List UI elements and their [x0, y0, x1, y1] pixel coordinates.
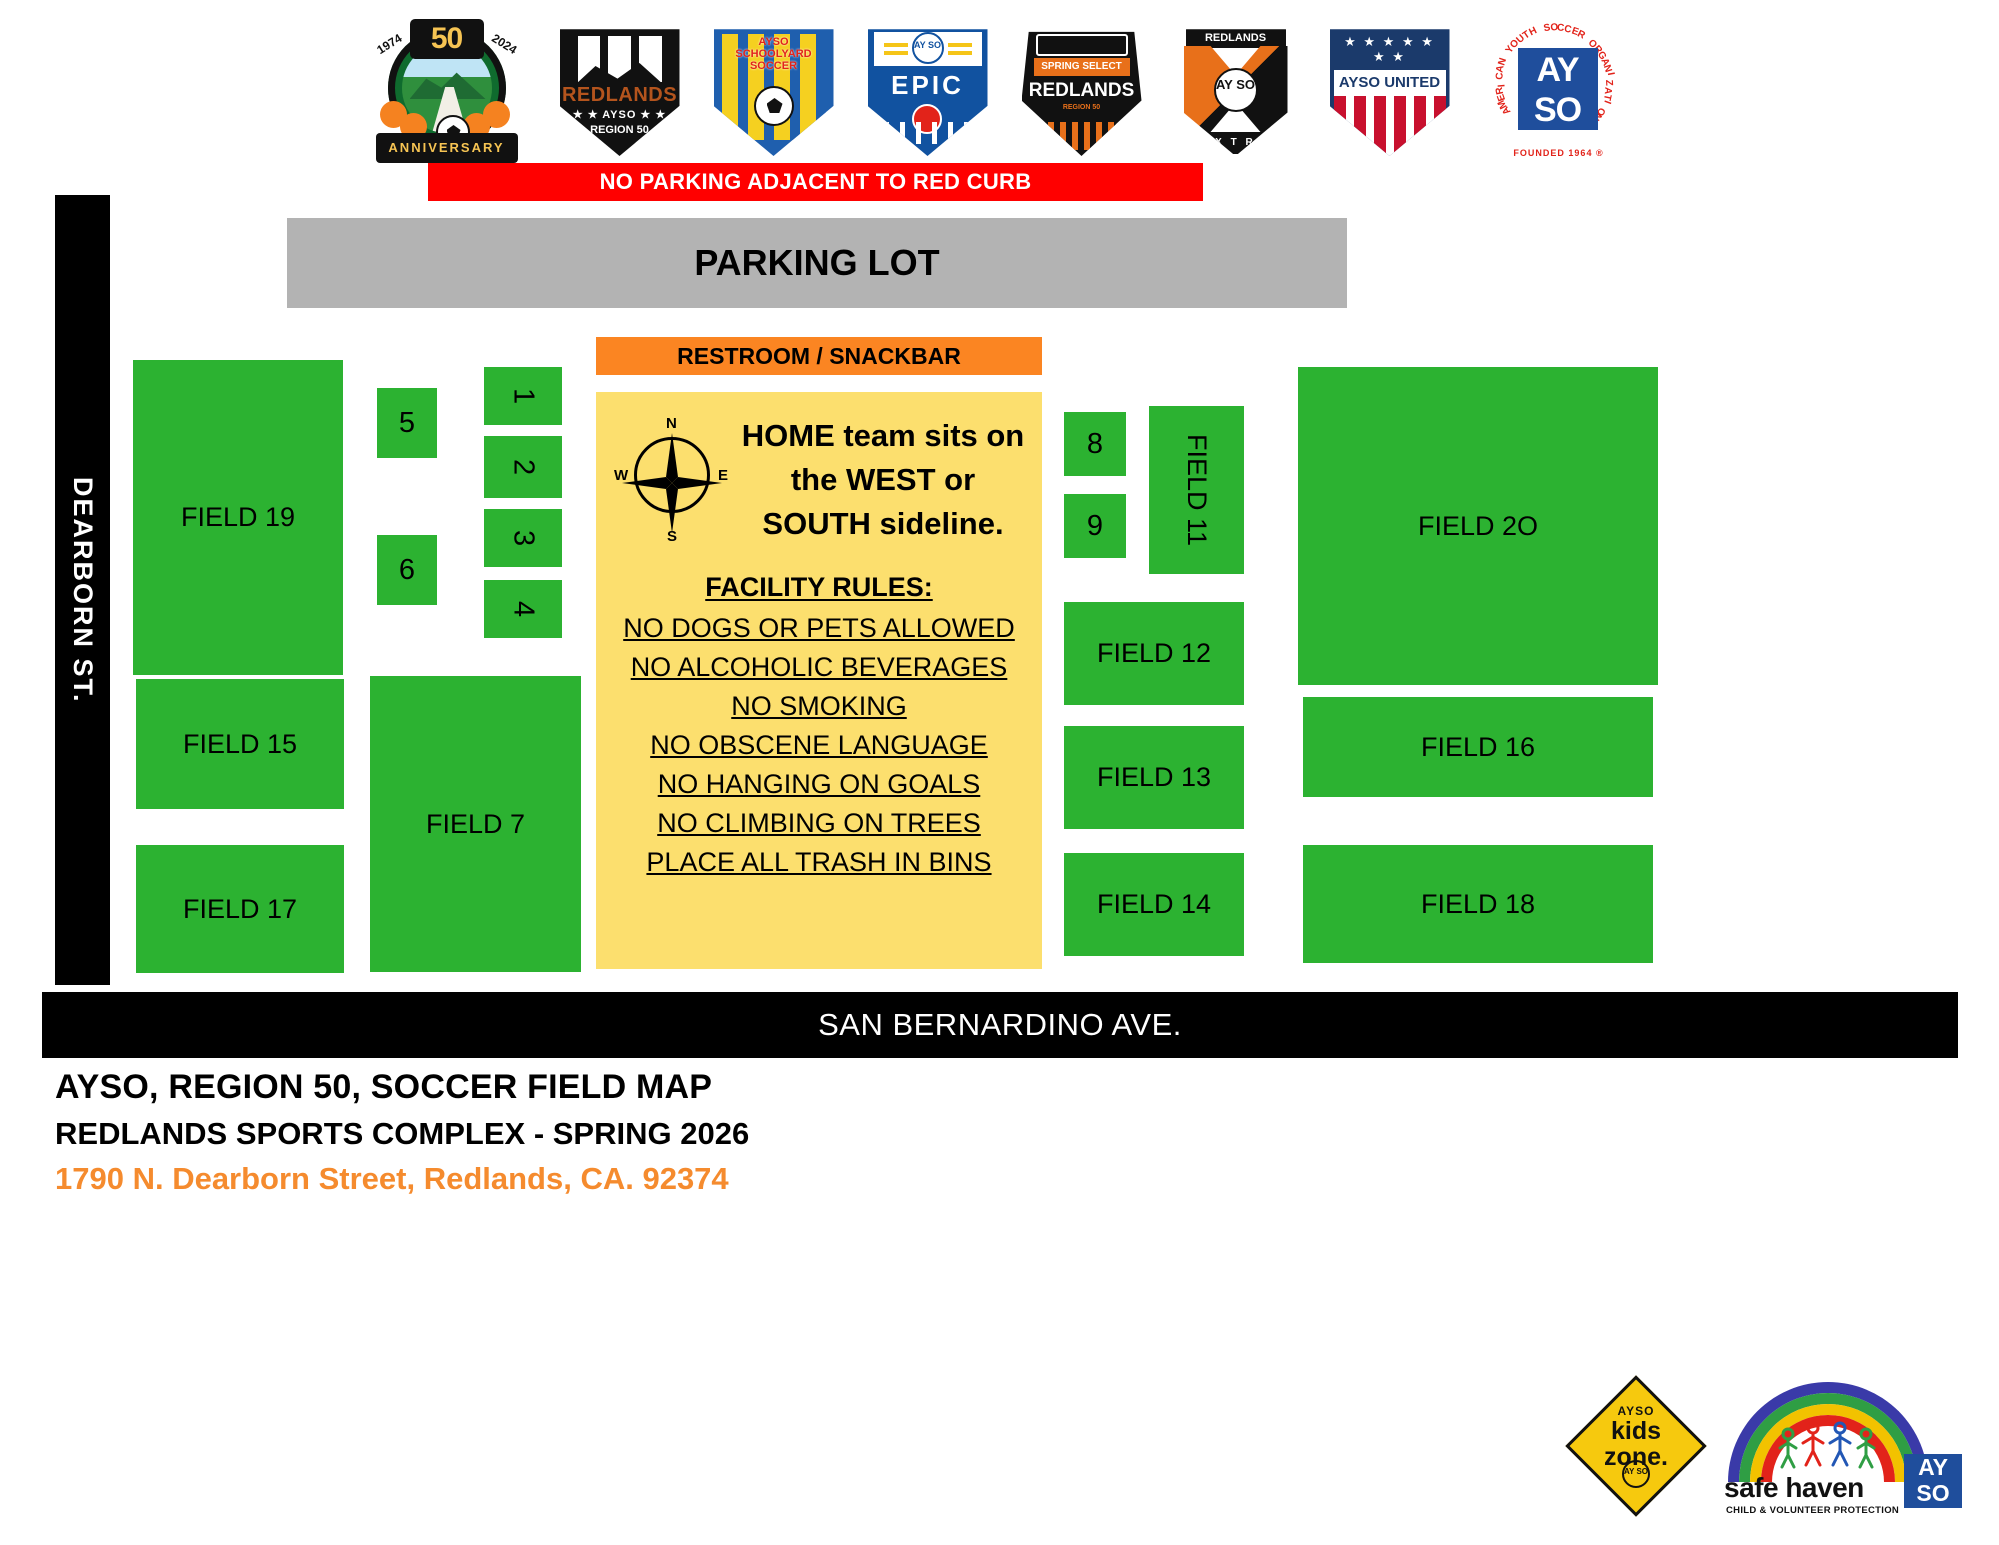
parking-lot-area: PARKING LOT — [287, 218, 1347, 308]
r-mark: R — [615, 62, 623, 74]
field-14[interactable]: FIELD 14 — [1064, 853, 1244, 956]
facility-rules-list: NO DOGS OR PETS ALLOWED NO ALCOHOLIC BEV… — [604, 609, 1034, 882]
footer: AYSO, REGION 50, SOCCER FIELD MAP REDLAN… — [55, 1068, 1155, 1197]
redlands-region-50-shield-logo: R REDLANDS ★ ★ AYSO ★ ★ REGION 50 — [560, 24, 680, 156]
field-4[interactable]: 4 — [484, 580, 562, 638]
field-12[interactable]: FIELD 12 — [1064, 602, 1244, 705]
schoolyard-line-2: SCHOOLYARD — [714, 48, 834, 60]
shield-stars: ★ ★ ★ ★ ★ ★ ★ — [1336, 30, 1444, 70]
rule-item: NO DOGS OR PETS ALLOWED — [604, 609, 1034, 648]
compass-west-label: W — [614, 467, 628, 484]
rule-item: NO OBSCENE LANGUAGE — [604, 726, 1034, 765]
logo-strip: 1974 2024 50 ANNIVERSARY R REDLANDS ★ ★ … — [0, 0, 1999, 180]
shield-title: EPIC — [868, 70, 988, 101]
spring-select-redlands-shield-logo: SPRING SELECT REDLANDS REGION 50 — [1022, 24, 1142, 156]
field-20[interactable]: FIELD 2O — [1298, 367, 1658, 685]
shield-outline — [1036, 34, 1128, 56]
compass-star — [620, 431, 724, 535]
ayso-united-shield-logo: ★ ★ ★ ★ ★ ★ ★ AYSO UNITED — [1330, 24, 1450, 156]
shield-title: REDLANDS — [1022, 80, 1142, 102]
field-3[interactable]: 3 — [484, 509, 562, 567]
field-1-label: 1 — [507, 388, 540, 404]
shield-region: REGION 50 — [1022, 104, 1142, 111]
field-17[interactable]: FIELD 17 — [136, 845, 344, 973]
compass-south-label: S — [667, 528, 677, 545]
shield-stripes — [884, 122, 972, 144]
info-box-top: N S W E HOME team sits on the WEST or SO… — [604, 406, 1034, 546]
footer-title: AYSO, REGION 50, SOCCER FIELD MAP — [55, 1068, 1155, 1107]
facility-rules-title: FACILITY RULES: — [604, 572, 1034, 603]
ayso-extra-redlands-logo: REDLANDS AY SO E X T R A — [1176, 24, 1296, 156]
seal-number: 50 — [410, 19, 484, 59]
footer-address: 1790 N. Dearborn Street, Redlands, CA. 9… — [55, 1161, 1155, 1197]
field-4-label: 4 — [507, 601, 540, 617]
dearborn-street-label: DEARBORN ST. — [55, 195, 110, 985]
ayso-national-logo: AMERICAN YOUTH SOCCER ORGANIZATION AY SO… — [1484, 20, 1634, 160]
ayso-kids-zone-badge: AYSO kids zone. AY SO — [1572, 1382, 1700, 1510]
field-8[interactable]: 8 — [1064, 412, 1126, 476]
schoolyard-line-1: AYSO — [714, 36, 834, 48]
shield-title: AYSO SCHOOLYARD SOCCER — [714, 36, 834, 72]
field-3-label: 3 — [507, 530, 540, 546]
shield-title: REDLANDS — [560, 84, 680, 107]
shield-title: AYSO UNITED — [1334, 70, 1446, 96]
field-7[interactable]: FIELD 7 — [370, 676, 581, 972]
rule-item: NO ALCOHOLIC BEVERAGES — [604, 648, 1034, 687]
no-parking-banner: NO PARKING ADJACENT TO RED CURB — [428, 163, 1203, 201]
field-16[interactable]: FIELD 16 — [1303, 697, 1653, 797]
shield-region: REGION 50 — [560, 124, 680, 136]
field-5[interactable]: 5 — [377, 388, 437, 458]
compass-north-label: N — [666, 415, 677, 432]
field-13[interactable]: FIELD 13 — [1064, 726, 1244, 829]
footer-subtitle: REDLANDS SPORTS COMPLEX - SPRING 2026 — [55, 1116, 1155, 1152]
rule-item: NO CLIMBING ON TREES — [604, 804, 1034, 843]
field-2-label: 2 — [507, 459, 540, 475]
field-11-label: FIELD 11 — [1181, 434, 1212, 546]
epic-shield-logo: AY SO EPIC — [868, 24, 988, 156]
kids-zone-line-1: kids — [1572, 1418, 1700, 1444]
ayso-schoolyard-soccer-shield-logo: AYSO SCHOOLYARD SOCCER — [714, 24, 834, 156]
seal-ribbon-label: ANNIVERSARY — [376, 133, 518, 163]
rule-item: PLACE ALL TRASH IN BINS — [604, 843, 1034, 882]
field-15[interactable]: FIELD 15 — [136, 679, 344, 809]
rule-item: NO SMOKING — [604, 687, 1034, 726]
extra-label: E X T R A — [1194, 132, 1278, 154]
info-box: N S W E HOME team sits on the WEST or SO… — [596, 392, 1042, 969]
restroom-snackbar-banner: RESTROOM / SNACKBAR — [596, 337, 1042, 375]
safe-haven-title: safe haven — [1724, 1472, 1924, 1504]
san-bernardino-ave-label: SAN BERNARDINO AVE. — [42, 992, 1958, 1058]
field-1[interactable]: 1 — [484, 367, 562, 425]
children-figures-icon — [1778, 1420, 1878, 1478]
field-9[interactable]: 9 — [1064, 494, 1126, 558]
dearborn-street-text: DEARBORN ST. — [67, 477, 98, 704]
shield-stripes — [1334, 96, 1446, 156]
ayso-wordmark: AY SO — [1518, 48, 1598, 130]
soccer-ball-icon — [754, 86, 794, 126]
field-19[interactable]: FIELD 19 — [133, 360, 343, 675]
ayso-badge-icon: AY SO — [1214, 68, 1258, 112]
compass-rose-icon: N S W E — [612, 415, 730, 545]
field-18[interactable]: FIELD 18 — [1303, 845, 1653, 963]
schoolyard-line-3: SOCCER — [714, 60, 834, 72]
extra-header-label: REDLANDS — [1186, 28, 1286, 48]
kids-zone-brand: AYSO — [1572, 1404, 1700, 1418]
shield-stripes — [1048, 122, 1116, 150]
shield-stars: ★ ★ AYSO ★ ★ — [560, 108, 680, 121]
home-team-note: HOME team sits on the WEST or SOUTH side… — [736, 414, 1034, 546]
ayso-badge-icon: AY SO — [912, 32, 944, 64]
rule-item: NO HANGING ON GOALS — [604, 765, 1034, 804]
field-2[interactable]: 2 — [484, 436, 562, 498]
ayso-badge-icon: AY SO — [1622, 1460, 1650, 1488]
spring-select-ribbon: SPRING SELECT — [1034, 58, 1130, 76]
anniversary-seal-logo: 1974 2024 50 ANNIVERSARY — [366, 15, 526, 165]
safe-haven-badge: safe haven CHILD & VOLUNTEER PROTECTION … — [1720, 1378, 1970, 1518]
field-11[interactable]: FIELD 11 — [1149, 406, 1244, 574]
compass-east-label: E — [718, 467, 728, 484]
ayso-wordmark: AY SO — [1904, 1454, 1962, 1508]
founded-label: FOUNDED 1964 ® — [1484, 148, 1634, 158]
field-6[interactable]: 6 — [377, 535, 437, 605]
